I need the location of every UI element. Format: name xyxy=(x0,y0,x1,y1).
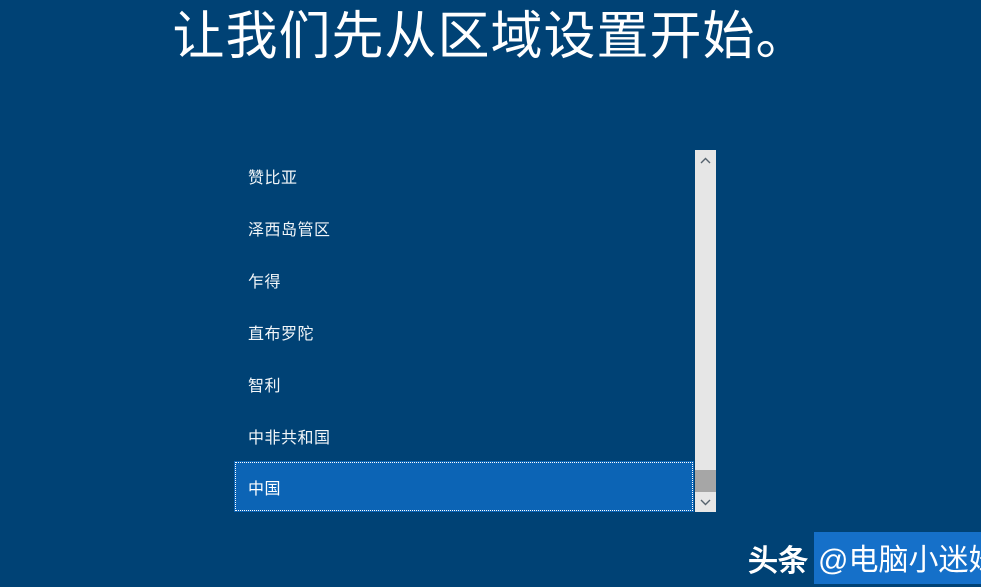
watermark: 头条 @电脑小迷妹 xyxy=(748,538,981,578)
scrollbar[interactable] xyxy=(694,150,716,512)
region-label: 泽西岛管区 xyxy=(248,216,331,240)
list-item[interactable]: 乍得 xyxy=(234,254,694,306)
region-label: 直布罗陀 xyxy=(248,320,314,344)
region-label: 乍得 xyxy=(248,268,281,292)
list-item[interactable]: 智利 xyxy=(234,358,694,410)
list-item-selected[interactable]: 中国 xyxy=(234,461,694,512)
region-label: 智利 xyxy=(248,372,281,396)
region-label: 赞比亚 xyxy=(248,164,298,188)
list-item[interactable]: 赞比亚 xyxy=(234,150,694,202)
oobe-region-setup-screen: 让我们先从区域设置开始。 赞比亚 泽西岛管区 乍得 直布罗陀 智利 中非共和国 xyxy=(0,0,981,587)
region-label: 中国 xyxy=(248,475,281,499)
watermark-brand: 头条 xyxy=(748,536,814,580)
scrollbar-thumb[interactable] xyxy=(695,470,716,494)
list-item[interactable]: 直布罗陀 xyxy=(234,306,694,358)
region-list[interactable]: 赞比亚 泽西岛管区 乍得 直布罗陀 智利 中非共和国 中国 xyxy=(234,150,694,512)
chevron-up-icon xyxy=(700,157,711,164)
region-label: 中非共和国 xyxy=(248,424,331,448)
list-item[interactable]: 中非共和国 xyxy=(234,410,694,462)
region-listbox[interactable]: 赞比亚 泽西岛管区 乍得 直布罗陀 智利 中非共和国 中国 xyxy=(234,150,716,512)
watermark-handle: @电脑小迷妹 xyxy=(814,532,981,584)
scrollbar-track[interactable] xyxy=(695,170,716,492)
scrollbar-up-button[interactable] xyxy=(695,150,716,170)
page-title: 让我们先从区域设置开始。 xyxy=(0,2,981,72)
scrollbar-down-button[interactable] xyxy=(695,492,716,512)
chevron-down-icon xyxy=(700,499,711,506)
list-item[interactable]: 泽西岛管区 xyxy=(234,202,694,254)
